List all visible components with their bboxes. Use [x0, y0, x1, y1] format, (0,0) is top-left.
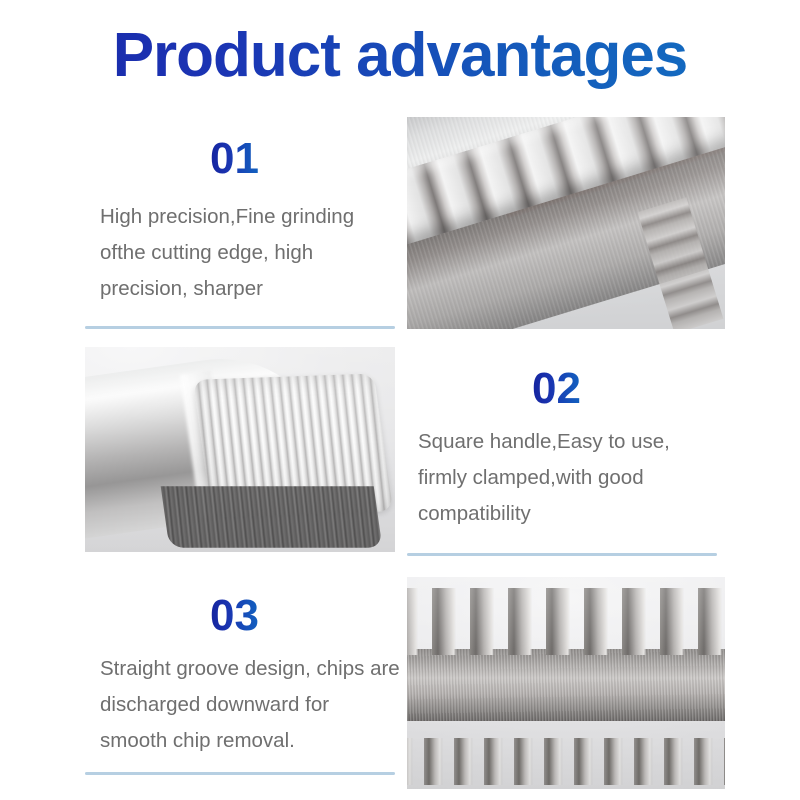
photo-gloss-overlay — [407, 577, 725, 789]
photo-gloss-overlay — [407, 117, 725, 329]
section-number-03: 03 — [210, 590, 259, 642]
section-number-01: 01 — [210, 133, 259, 185]
section-divider-03 — [85, 772, 395, 775]
section-image-02 — [85, 347, 395, 552]
section-number-02: 02 — [532, 363, 581, 415]
section-text-01: High precision,Fine grinding ofthe cutti… — [100, 199, 402, 307]
section-image-01 — [407, 117, 725, 329]
section-text-02: Square handle,Easy to use, firmly clampe… — [418, 424, 723, 532]
section-image-03 — [407, 577, 725, 789]
photo-gloss-overlay — [85, 347, 395, 552]
page-title: Product advantages — [0, 18, 800, 94]
section-text-03: Straight groove design, chips are discha… — [100, 651, 400, 759]
product-advantages-page: Product advantages 01 High precision,Fin… — [0, 0, 800, 800]
section-divider-01 — [85, 326, 395, 329]
section-divider-02 — [407, 553, 717, 556]
